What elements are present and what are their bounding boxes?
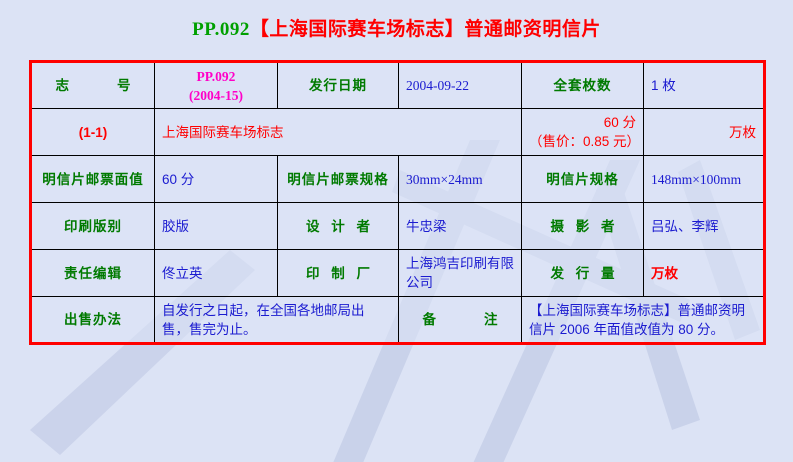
- cell-value-serial-no: PP.092(2004-15): [155, 62, 278, 109]
- cell-value-photographer: 吕弘、李辉: [644, 203, 765, 250]
- table-row: 志 号 PP.092(2004-15) 发行日期 2004-09-22 全套枚数…: [31, 62, 765, 109]
- cell-value-print-process: 胶版: [155, 203, 278, 250]
- page-title-main: 【上海国际赛车场标志】普通邮资明信片: [250, 19, 601, 40]
- cell-label-sales-method: 出售办法: [31, 297, 155, 344]
- cell-label-set-count: 全套枚数: [522, 62, 644, 109]
- cell-label-printer: 印 制 厂: [278, 250, 399, 297]
- cell-value-set-count: 1 枚: [644, 62, 765, 109]
- table-row: 印刷版别 胶版 设 计 者 牛忠梁 摄 影 者 吕弘、李辉: [31, 203, 765, 250]
- cell-label-issue-date: 发行日期: [278, 62, 399, 109]
- cell-item-quantity: 万枚: [644, 109, 765, 156]
- cell-label-stamp-size: 明信片邮票规格: [278, 156, 399, 203]
- cell-value-designer: 牛忠梁: [399, 203, 522, 250]
- cell-value-stamp-size: 30mm×24mm: [399, 156, 522, 203]
- cell-value-printer: 上海鸿吉印刷有限公司: [399, 250, 522, 297]
- cell-label-stamp-face-value: 明信片邮票面值: [31, 156, 155, 203]
- cell-label-photographer: 摄 影 者: [522, 203, 644, 250]
- cell-label-editor: 责任编辑: [31, 250, 155, 297]
- table-row: 明信片邮票面值 60 分 明信片邮票规格 30mm×24mm 明信片规格 148…: [31, 156, 765, 203]
- cell-label-print-run: 发 行 量: [522, 250, 644, 297]
- cell-value-stamp-face-value: 60 分: [155, 156, 278, 203]
- cell-value-sales-method: 自发行之日起，在全国各地邮局出售，售完为止。: [155, 297, 399, 344]
- cell-item-index: (1-1): [31, 109, 155, 156]
- page-title-code: PP.092: [192, 19, 250, 40]
- cell-value-remarks: 【上海国际赛车场标志】普通邮资明信片 2006 年面值改值为 80 分。: [522, 297, 765, 344]
- stamp-info-table: 志 号 PP.092(2004-15) 发行日期 2004-09-22 全套枚数…: [29, 60, 766, 345]
- cell-label-postcard-size: 明信片规格: [522, 156, 644, 203]
- cell-label-serial-no: 志 号: [31, 62, 155, 109]
- cell-label-designer: 设 计 者: [278, 203, 399, 250]
- cell-value-postcard-size: 148mm×100mm: [644, 156, 765, 203]
- table-row: (1-1) 上海国际赛车场标志 60 分（售价：0.85 元） 万枚: [31, 109, 765, 156]
- cell-value-issue-date: 2004-09-22: [399, 62, 522, 109]
- cell-item-name: 上海国际赛车场标志: [155, 109, 522, 156]
- cell-value-editor: 佟立英: [155, 250, 278, 297]
- cell-label-print-process: 印刷版别: [31, 203, 155, 250]
- page-title: PP.092【上海国际赛车场标志】普通邮资明信片: [0, 18, 793, 42]
- postcard-info-page: PP.092【上海国际赛车场标志】普通邮资明信片 志 号 PP.092(2004…: [0, 0, 793, 462]
- cell-label-remarks: 备 注: [399, 297, 522, 344]
- cell-value-print-run: 万枚: [644, 250, 765, 297]
- table-row: 出售办法 自发行之日起，在全国各地邮局出售，售完为止。 备 注 【上海国际赛车场…: [31, 297, 765, 344]
- table-row: 责任编辑 佟立英 印 制 厂 上海鸿吉印刷有限公司 发 行 量 万枚: [31, 250, 765, 297]
- cell-item-face-value: 60 分（售价：0.85 元）: [522, 109, 644, 156]
